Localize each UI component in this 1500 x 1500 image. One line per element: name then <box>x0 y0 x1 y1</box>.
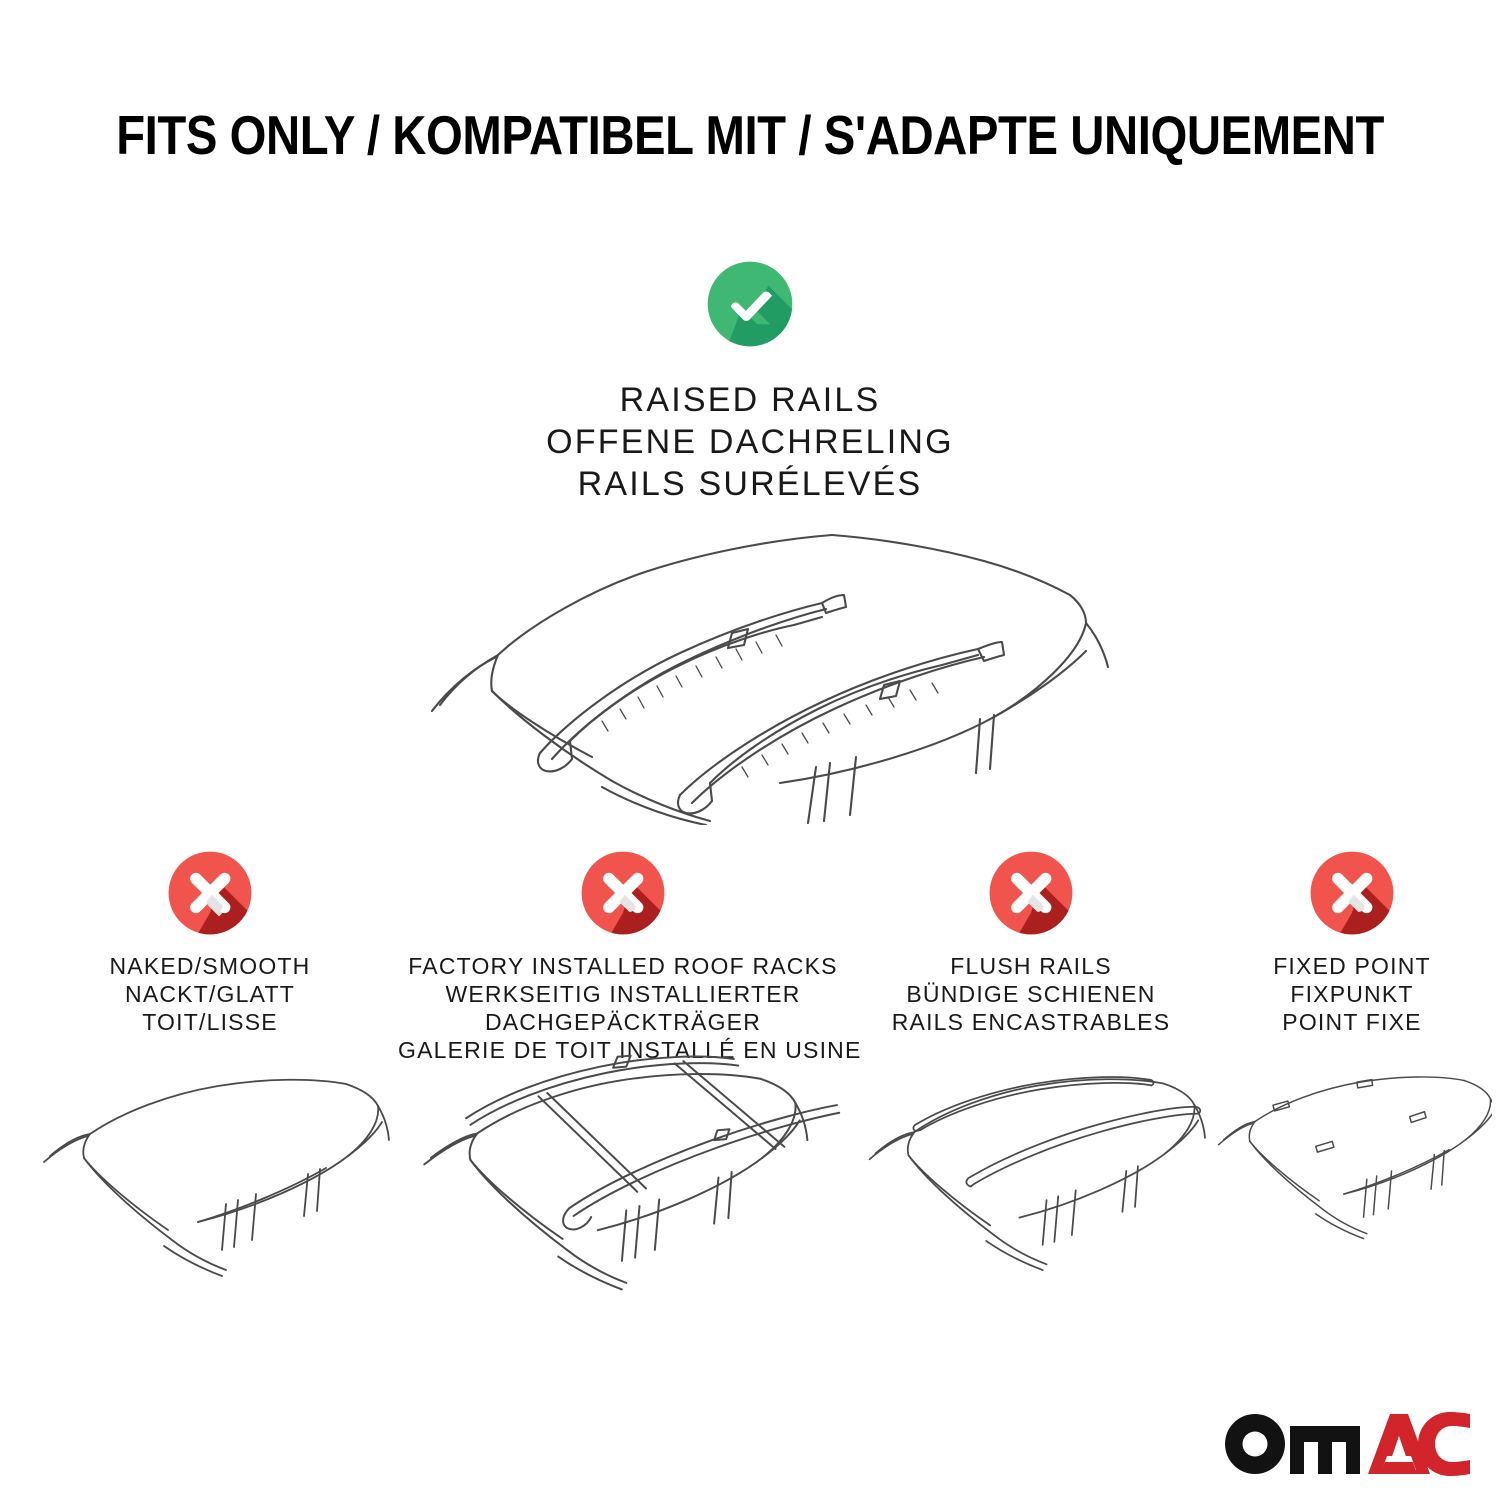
car-roof-naked-smooth-illustration <box>30 1064 390 1279</box>
caption-line: FLUSH RAILS <box>856 952 1206 980</box>
caption-line: DACHGEPÄCKTRÄGER <box>398 1008 848 1036</box>
compatible-caption: RAISED RAILS OFFENE DACHRELING RAILS SUR… <box>0 379 1500 505</box>
caption-line: NAKED/SMOOTH <box>30 952 390 980</box>
page-title: FITS ONLY / KOMPATIBEL MIT / S'ADAPTE UN… <box>0 104 1500 166</box>
car-roof-fixed-point-illustration <box>1212 1064 1492 1241</box>
incompatible-item-flush-rails: FLUSH RAILS BÜNDIGE SCHIENEN RAILS ENCAS… <box>856 848 1206 1036</box>
caption-line: FIXED POINT <box>1212 952 1492 980</box>
caption-line: TOIT/LISSE <box>30 1008 390 1036</box>
omac-logo <box>1222 1404 1470 1480</box>
incompatible-item-fixed-point: FIXED POINT FIXPUNKT POINT FIXE <box>1212 848 1492 1036</box>
compatible-label-de: OFFENE DACHRELING <box>0 421 1500 463</box>
caption-line: WERKSEITIG INSTALLIERTER <box>398 980 848 1008</box>
caption-line: NACKT/GLATT <box>30 980 390 1008</box>
car-roof-raised-rails-illustration <box>380 505 1120 825</box>
incompatible-caption: FLUSH RAILS BÜNDIGE SCHIENEN RAILS ENCAS… <box>856 952 1206 1036</box>
caption-line: BÜNDIGE SCHIENEN <box>856 980 1206 1008</box>
caption-line: FIXPUNKT <box>1212 980 1492 1008</box>
caption-line: RAILS ENCASTRABLES <box>856 1008 1206 1036</box>
compatible-label-fr: RAILS SURÉLEVÉS <box>0 463 1500 505</box>
cross-circle-icon <box>856 848 1206 944</box>
compatible-section: RAISED RAILS OFFENE DACHRELING RAILS SUR… <box>0 258 1500 505</box>
car-roof-flush-rails-illustration <box>856 1064 1206 1273</box>
caption-line: FACTORY INSTALLED ROOF RACKS <box>398 952 848 980</box>
cross-circle-icon <box>30 848 390 944</box>
compatible-label-en: RAISED RAILS <box>0 379 1500 421</box>
incompatible-section: NAKED/SMOOTH NACKT/GLATT TOIT/LISSE <box>0 848 1500 1318</box>
caption-line: POINT FIXE <box>1212 1008 1492 1036</box>
car-roof-factory-racks-illustration <box>398 1048 848 1300</box>
cross-circle-icon <box>1212 848 1492 944</box>
page-title-text: FITS ONLY / KOMPATIBEL MIT / S'ADAPTE UN… <box>116 104 1384 166</box>
check-circle-icon <box>704 258 796 350</box>
incompatible-item-factory-racks: FACTORY INSTALLED ROOF RACKS WERKSEITIG … <box>398 848 848 1064</box>
cross-circle-icon <box>398 848 848 944</box>
incompatible-caption: NAKED/SMOOTH NACKT/GLATT TOIT/LISSE <box>30 952 390 1036</box>
incompatible-item-naked-smooth: NAKED/SMOOTH NACKT/GLATT TOIT/LISSE <box>30 848 390 1036</box>
incompatible-caption: FIXED POINT FIXPUNKT POINT FIXE <box>1212 952 1492 1036</box>
